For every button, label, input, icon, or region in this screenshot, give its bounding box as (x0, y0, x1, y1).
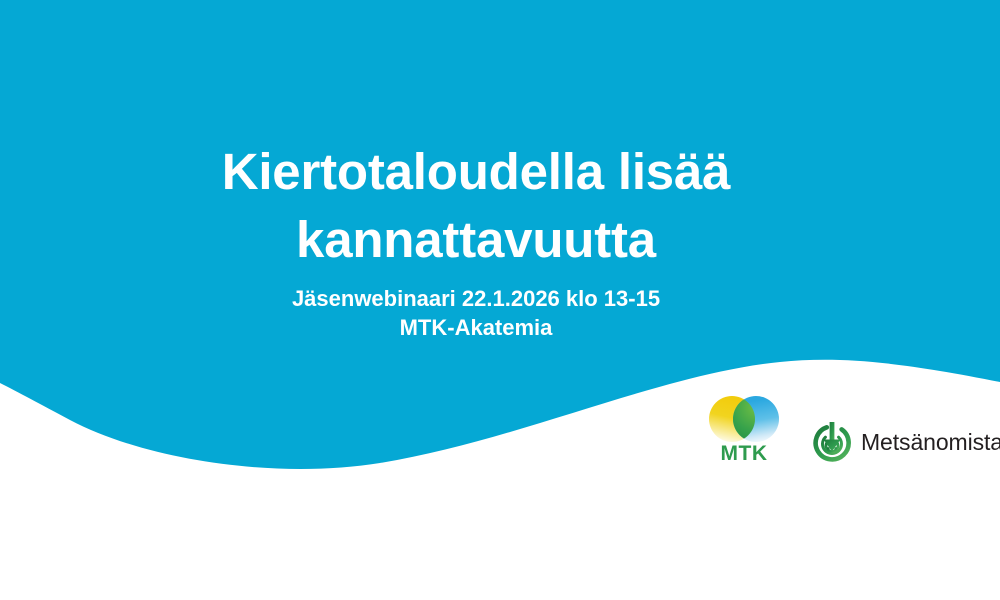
metsanomistajat-logo: Metsänomistajat (812, 418, 1000, 466)
logo-row: MTK (700, 396, 1000, 480)
tree-rings-down-arrow-icon (812, 420, 852, 464)
slide-subtitle: Jäsenwebinaari 22.1.2026 klo 13-15 MTK-A… (0, 284, 952, 342)
metsanomistajat-wordmark: Metsänomistajat (861, 429, 1000, 455)
title-line-1: Kiertotaloudella lisää (0, 138, 952, 206)
subtitle-line-2: MTK-Akatemia (0, 313, 952, 342)
mtk-circles-icon (702, 396, 786, 442)
mtk-logo: MTK (700, 396, 792, 476)
presentation-slide: Kiertotaloudella lisää kannattavuutta Jä… (0, 0, 1000, 600)
subtitle-line-1: Jäsenwebinaari 22.1.2026 klo 13-15 (0, 284, 952, 313)
slide-title: Kiertotaloudella lisää kannattavuutta (0, 138, 952, 274)
mtk-wordmark: MTK (700, 442, 788, 466)
title-line-2: kannattavuutta (0, 206, 952, 274)
